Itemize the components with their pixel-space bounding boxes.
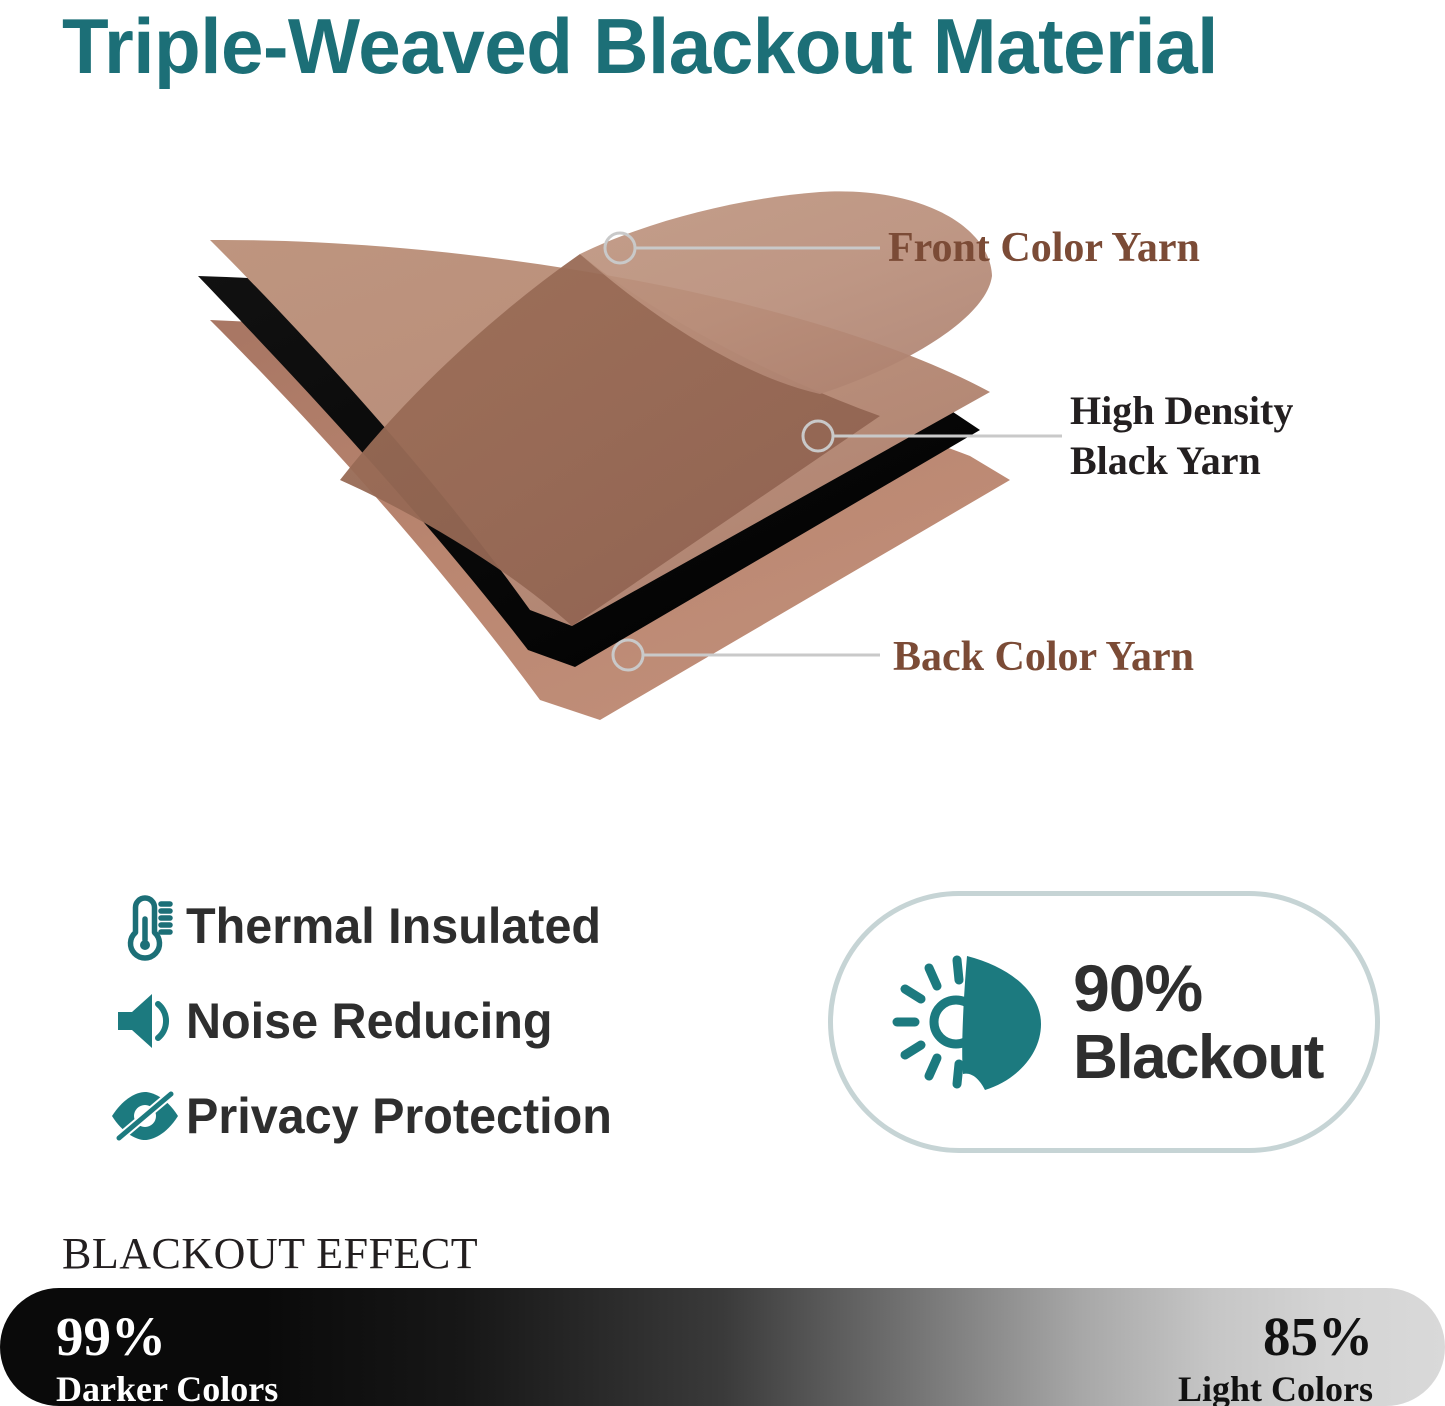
diagram-label-black-line1: High Density — [1070, 386, 1293, 436]
speaker-icon — [104, 982, 186, 1060]
sun-behind-curtain-icon — [885, 946, 1055, 1098]
diagram-label-back-color-yarn: Back Color Yarn — [893, 633, 1194, 681]
feature-label-privacy-protection: Privacy Protection — [186, 1088, 612, 1144]
blackout-effect-left-value: 99% Darker Colors — [56, 1308, 278, 1406]
diagram-label-black-line2: Black Yarn — [1070, 436, 1293, 486]
blackout-effect-right-value: 85% Light Colors — [1178, 1308, 1373, 1406]
badge-percent: 90% — [1073, 955, 1323, 1021]
features-list: Thermal Insulated Noise Reducing Privacy… — [104, 882, 744, 1167]
page-title: Triple-Weaved Blackout Material — [62, 0, 1375, 92]
diagram-label-front-color-yarn: Front Color Yarn — [888, 224, 1200, 272]
right-percent: 85% — [1178, 1308, 1373, 1366]
feature-label-thermal-insulated: Thermal Insulated — [186, 898, 601, 954]
feature-label-noise-reducing: Noise Reducing — [186, 993, 553, 1049]
thermometer-icon — [104, 887, 186, 965]
blackout-badge: 90% Blackout — [828, 891, 1380, 1153]
feature-thermal-insulated: Thermal Insulated — [104, 882, 744, 970]
diagram-label-high-density-black-yarn: High Density Black Yarn — [1070, 386, 1293, 486]
badge-word: Blackout — [1073, 1027, 1323, 1089]
left-sublabel: Darker Colors — [56, 1368, 278, 1406]
feature-privacy-protection: Privacy Protection — [104, 1072, 744, 1160]
fabric-layers-diagram — [180, 180, 1240, 800]
eye-slash-icon — [104, 1077, 186, 1155]
feature-noise-reducing: Noise Reducing — [104, 977, 744, 1065]
right-sublabel: Light Colors — [1178, 1368, 1373, 1406]
blackout-effect-heading: BLACKOUT EFFECT — [62, 1228, 478, 1280]
badge-text: 90% Blackout — [1073, 955, 1323, 1089]
left-percent: 99% — [56, 1308, 278, 1366]
blackout-effect-bar: 99% Darker Colors 85% Light Colors — [0, 1288, 1445, 1406]
